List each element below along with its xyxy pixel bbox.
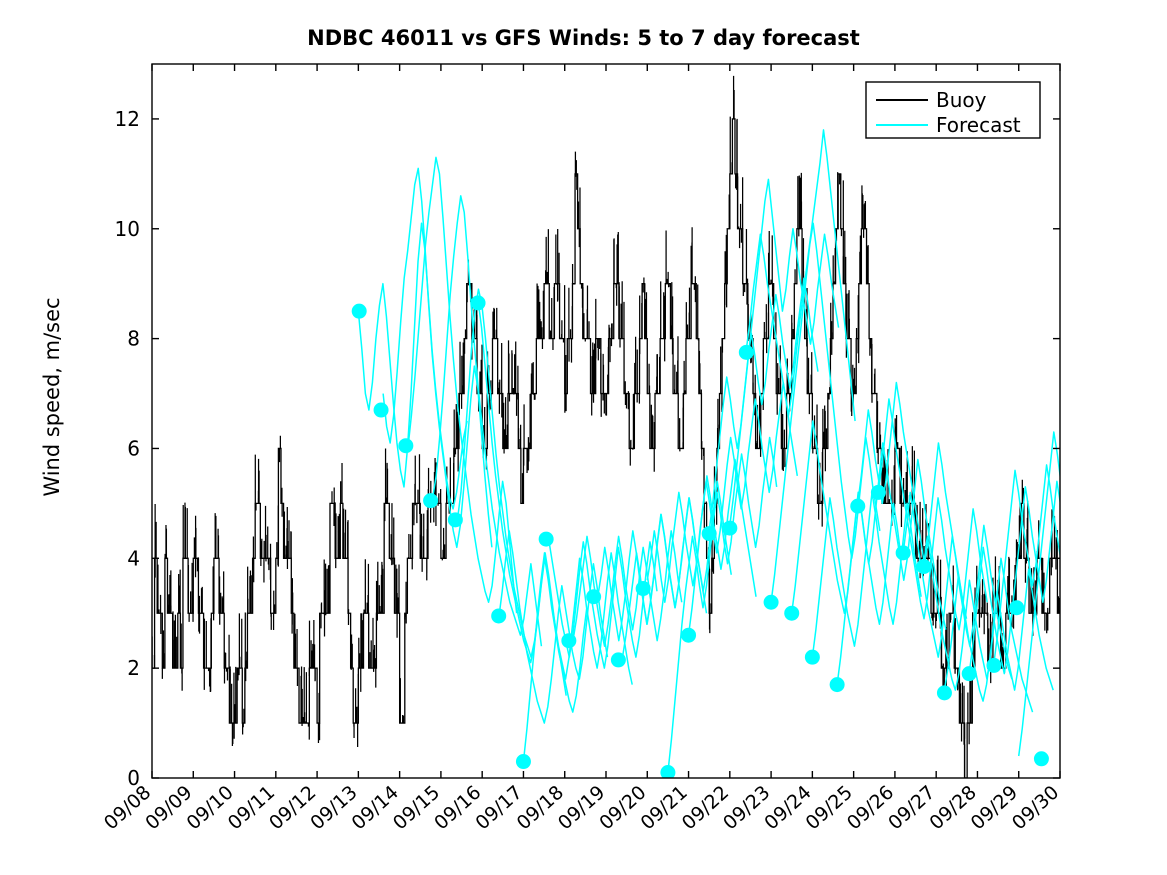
forecast-marker [471, 295, 486, 310]
forecast-marker [830, 677, 845, 692]
y-tick-label: 2 [127, 656, 140, 680]
x-tick-label: 09/21 [636, 781, 691, 834]
x-tick-label: 09/20 [595, 781, 650, 834]
x-tick-label: 09/17 [471, 781, 526, 834]
x-tick-label: 09/27 [884, 781, 939, 834]
x-tick-label: 09/25 [802, 781, 857, 834]
chart-plot-area: 024681012 09/0809/0909/1009/1109/1209/13… [0, 0, 1167, 875]
x-tick-label: 09/28 [925, 781, 980, 834]
x-tick-label: 09/24 [760, 781, 815, 834]
legend-label-forecast: Forecast [936, 113, 1021, 137]
forecast-marker [681, 628, 696, 643]
forecast-marker [586, 589, 601, 604]
forecast-marker [491, 608, 506, 623]
forecast-marker [611, 652, 626, 667]
x-tick-label: 09/19 [554, 781, 609, 834]
x-tick-label: 09/26 [843, 781, 898, 834]
x-tick-label: 09/30 [1008, 781, 1063, 834]
legend-label-buoy: Buoy [936, 88, 987, 112]
forecast-marker [398, 438, 413, 453]
forecast-marker [805, 650, 820, 665]
x-tick-label: 09/12 [265, 781, 320, 834]
x-tick-label: 09/13 [306, 781, 361, 834]
y-tick-labels: 024681012 [115, 107, 140, 790]
forecast-marker [702, 526, 717, 541]
x-tick-label: 09/16 [430, 781, 485, 834]
x-tick-label: 09/23 [719, 781, 774, 834]
forecast-marker [423, 493, 438, 508]
y-tick-label: 6 [127, 436, 140, 460]
forecast-marker [962, 666, 977, 681]
x-tick-label: 09/29 [967, 781, 1022, 834]
forecast-marker [916, 559, 931, 574]
forecast-marker [871, 485, 886, 500]
forecast-marker [850, 499, 865, 514]
forecast-marker [448, 512, 463, 527]
x-tick-label: 09/09 [141, 781, 196, 834]
x-tick-label: 09/15 [389, 781, 444, 834]
figure-container: NDBC 46011 vs GFS Winds: 5 to 7 day fore… [0, 0, 1167, 875]
x-tick-label: 09/10 [182, 781, 237, 834]
x-tick-labels: 09/0809/0909/1009/1109/1209/1309/1409/15… [100, 781, 1063, 834]
forecast-marker [896, 545, 911, 560]
forecast-marker [516, 754, 531, 769]
forecast-marker [764, 595, 779, 610]
forecast-marker [722, 521, 737, 536]
forecast-marker [784, 606, 799, 621]
forecast-marker [1034, 751, 1049, 766]
forecast-marker [937, 685, 952, 700]
y-tick-label: 4 [127, 546, 140, 570]
axes [152, 64, 1060, 778]
forecast-marker [561, 633, 576, 648]
x-tick-label: 09/14 [348, 781, 403, 834]
series-buoy [152, 76, 1167, 778]
forecast-marker [739, 345, 754, 360]
forecast-marker [374, 403, 389, 418]
y-tick-label: 8 [127, 327, 140, 351]
x-tick-label: 09/18 [513, 781, 568, 834]
forecast-marker [636, 581, 651, 596]
y-tick-label: 12 [115, 107, 140, 131]
legend: BuoyForecast [866, 82, 1040, 138]
forecast-marker [1009, 600, 1024, 615]
x-tick-label: 09/11 [224, 781, 279, 834]
x-tick-label: 09/22 [678, 781, 733, 834]
forecast-marker [539, 532, 554, 547]
forecast-marker [352, 304, 367, 319]
forecast-marker [986, 658, 1001, 673]
y-tick-label: 10 [115, 217, 140, 241]
